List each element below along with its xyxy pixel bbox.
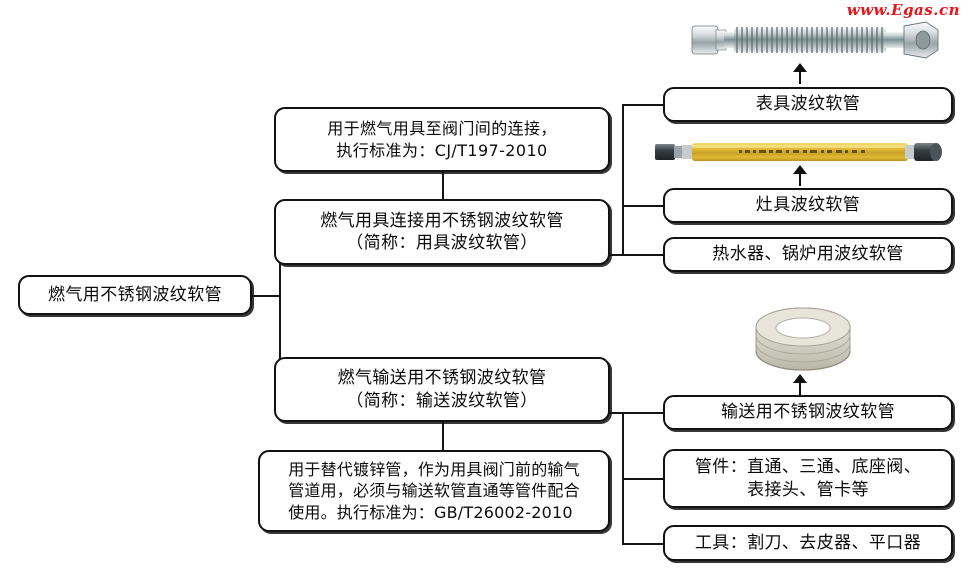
node-leaf-meter-hose-label: 表具波纹软管	[750, 93, 866, 115]
connector-root-to-trunk	[252, 295, 281, 297]
node-appliance-note-label: 用于燃气用具至阀门间的连接， 执行标准为：CJ/T197-2010	[321, 118, 563, 160]
coiled-hose-arrow-icon	[793, 374, 807, 396]
node-appliance-note[interactable]: 用于燃气用具至阀门间的连接， 执行标准为：CJ/T197-2010	[274, 107, 610, 172]
diagram-canvas: www.Egas.cn	[0, 0, 968, 578]
node-leaf-stove-hose-label: 灶具波纹软管	[750, 194, 866, 216]
node-leaf-tools-label: 工具：割刀、去皮器、平口器	[689, 532, 927, 554]
node-appliance-label: 燃气用具连接用不锈钢波纹软管 （简称：用具波纹软管）	[314, 210, 570, 255]
node-appliance[interactable]: 燃气用具连接用不锈钢波纹软管 （简称：用具波纹软管）	[274, 199, 610, 265]
meter-hose-photo	[690, 14, 940, 66]
connector-bracket-to-leaf-6	[622, 543, 664, 545]
node-root[interactable]: 燃气用不锈钢波纹软管	[18, 275, 252, 315]
node-leaf-waterheater-hose-label: 热水器、锅炉用波纹软管	[706, 243, 909, 265]
node-leaf-fittings[interactable]: 管件：直通、三通、底座阀、 表接头、管卡等	[663, 449, 953, 508]
node-transport[interactable]: 燃气输送用不锈钢波纹软管 （简称：输送波纹软管）	[274, 357, 610, 422]
meter-hose-arrow-icon	[793, 63, 807, 85]
node-leaf-meter-hose[interactable]: 表具波纹软管	[663, 87, 953, 122]
node-leaf-waterheater-hose[interactable]: 热水器、锅炉用波纹软管	[663, 237, 953, 272]
connector-note-bottom-stub	[442, 422, 444, 450]
node-transport-label: 燃气输送用不锈钢波纹软管 （简称：输送波纹软管）	[332, 367, 553, 412]
node-transport-note[interactable]: 用于替代镀锌管，作为用具阀门前的输气 管道用，必须与输送软管直通等管件配合 使用…	[258, 450, 610, 532]
node-leaf-transport-hose-label: 输送用不锈钢波纹软管	[715, 401, 901, 423]
connector-upper-bracket-trunk	[622, 104, 624, 256]
connector-bracket-to-leaf-2	[622, 205, 664, 207]
node-transport-note-label: 用于替代镀锌管，作为用具阀门前的输气 管道用，必须与输送软管直通等管件配合 使用…	[282, 459, 586, 522]
node-root-label: 燃气用不锈钢波纹软管	[42, 284, 228, 306]
connector-bracket-to-leaf-3	[622, 254, 664, 256]
connector-note-top-stub	[442, 172, 444, 199]
stove-hose-photo	[655, 139, 945, 165]
node-leaf-transport-hose[interactable]: 输送用不锈钢波纹软管	[663, 395, 953, 430]
stove-hose-arrow-icon	[793, 165, 807, 187]
node-leaf-tools[interactable]: 工具：割刀、去皮器、平口器	[663, 525, 953, 561]
node-leaf-stove-hose[interactable]: 灶具波纹软管	[663, 188, 953, 223]
connector-bracket-to-leaf-1	[622, 104, 664, 106]
watermark-text: www.Egas.cn	[847, 1, 960, 19]
connector-bracket-to-leaf-5	[622, 478, 664, 480]
node-leaf-fittings-label: 管件：直通、三通、底座阀、 表接头、管卡等	[689, 456, 927, 501]
coiled-hose-photo	[748, 305, 858, 375]
connector-bracket-to-leaf-4	[622, 412, 664, 414]
